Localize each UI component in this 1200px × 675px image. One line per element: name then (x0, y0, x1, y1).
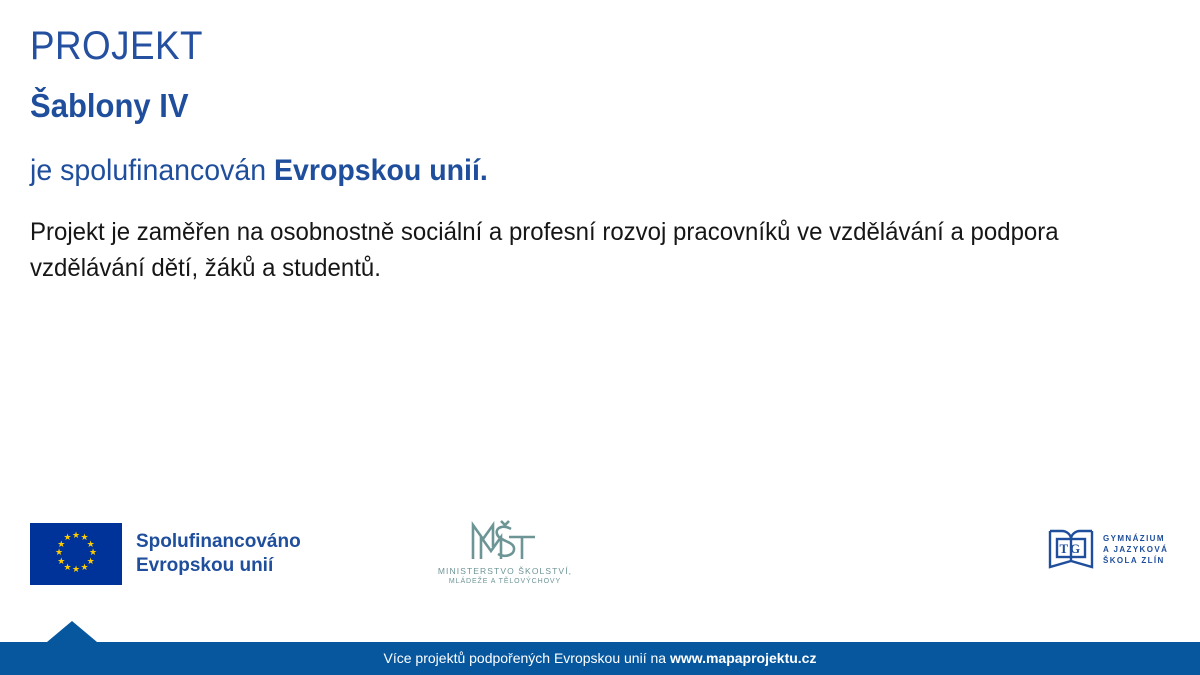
svg-text:G: G (1070, 541, 1080, 556)
eu-flag-icon: ★★★★★★★★★★★★ (30, 523, 122, 585)
page-kicker: PROJEKT (30, 22, 1088, 70)
open-book-tg-monogram-icon: T G (1048, 527, 1094, 571)
msmt-monogram-icon (425, 517, 585, 563)
ministry-logo: MINISTERSTVO ŠKOLSTVÍ, MLÁDEŽE A TĚLOVÝC… (425, 517, 585, 587)
school-name-line-1: GYMNÁZIUM (1103, 533, 1168, 544)
eu-logo-caption: Spolufinancováno Evropskou unií (136, 530, 301, 578)
page-title: Šablony IV (30, 86, 1111, 126)
eu-funding-logo: ★★★★★★★★★★★★ Spolufinancováno Evropskou … (30, 523, 301, 585)
ministry-name-line-1: MINISTERSTVO ŠKOLSTVÍ, (425, 566, 585, 577)
footer-caption: Více projektů podpořených Evropskou unií… (0, 642, 1200, 675)
school-name-line-3: ŠKOLA ZLÍN (1103, 555, 1168, 566)
ministry-name-line-2: MLÁDEŽE A TĚLOVÝCHOVY (425, 577, 585, 587)
funding-statement-prefix: je spolufinancován (30, 154, 274, 187)
school-name-line-2: A JAZYKOVÁ (1103, 544, 1168, 555)
school-name: GYMNÁZIUM A JAZYKOVÁ ŠKOLA ZLÍN (1103, 533, 1168, 566)
footer-caption-prefix: Více projektů podpořených Evropskou unií… (384, 650, 670, 666)
footer-triangle-notch (47, 621, 97, 642)
eu-caption-line-1: Spolufinancováno (136, 530, 301, 554)
footer-url[interactable]: www.mapaprojektu.cz (670, 650, 817, 666)
project-description: Projekt je zaměřen na osobnostně sociáln… (30, 214, 1134, 286)
school-logo: T G GYMNÁZIUM A JAZYKOVÁ ŠKOLA ZLÍN (1048, 527, 1168, 571)
slide-content: PROJEKT Šablony IV je spolufinancován Ev… (30, 22, 1180, 286)
footer-bar: Více projektů podpořených Evropskou unií… (0, 642, 1200, 675)
slide-canvas: PROJEKT Šablony IV je spolufinancován Ev… (0, 0, 1200, 675)
svg-text:T: T (1060, 541, 1069, 556)
logo-strip: ★★★★★★★★★★★★ Spolufinancováno Evropskou … (0, 505, 1200, 605)
funding-statement-emphasis: Evropskou unií. (274, 154, 488, 187)
eu-caption-line-2: Evropskou unií (136, 554, 301, 578)
funding-statement: je spolufinancován Evropskou unií. (30, 152, 1123, 190)
